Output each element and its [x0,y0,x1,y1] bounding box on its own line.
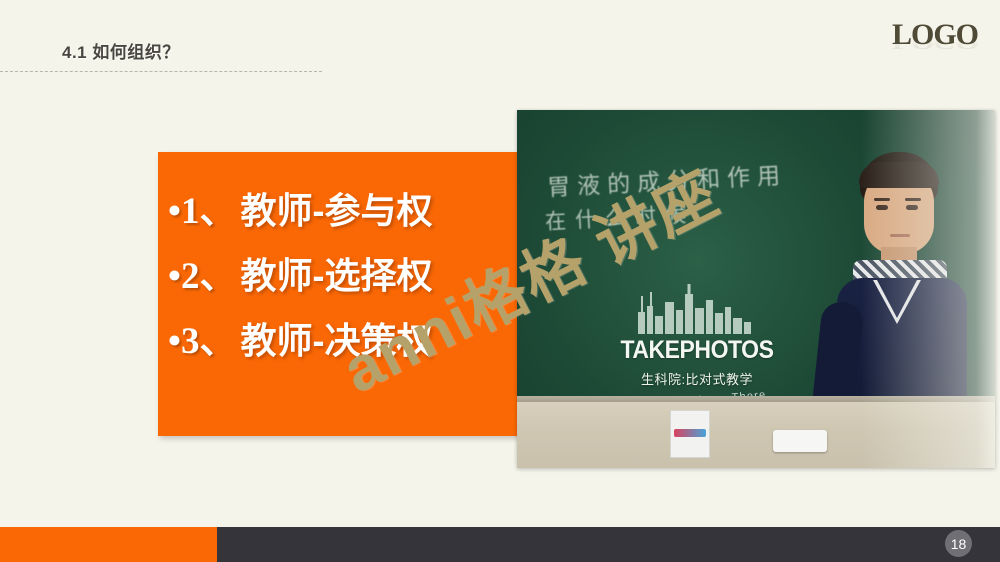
title-divider [0,71,322,72]
photo-fade-overlay [517,110,995,468]
list-item-label: 教师-参与权 [240,182,432,234]
list-item: •2、 教师-选择权 [168,245,520,299]
footer-bar: 18 [0,527,1000,562]
list-item: •1、 教师-参与权 [168,180,520,234]
content-panel: •1、 教师-参与权 •2、 教师-选择权 •3、 教师-决策权 [158,152,520,436]
list-item-marker: •3、 [168,310,236,364]
page-number-badge: 18 [945,530,972,557]
list-item-marker: •1、 [168,180,236,234]
list-item: •3、 教师-决策权 [168,310,520,364]
bullet-list: •1、 教师-参与权 •2、 教师-选择权 •3、 教师-决策权 [158,152,520,364]
logo-reflection: LOGO [892,35,978,52]
slide: 4.1 如何组织？ LOGO LOGO •1、 教师-参与权 •2、 教师-选择… [0,0,1000,562]
footer-accent-block [0,527,217,562]
lecture-photo: 胃液的成分和作用 在什么时候 [517,110,995,468]
logo: LOGO LOGO [892,20,978,81]
page-title: 4.1 如何组织？ [62,38,180,63]
list-item-label: 教师-决策权 [240,312,432,364]
list-item-label: 教师-选择权 [240,247,432,299]
list-item-marker: •2、 [168,245,236,299]
